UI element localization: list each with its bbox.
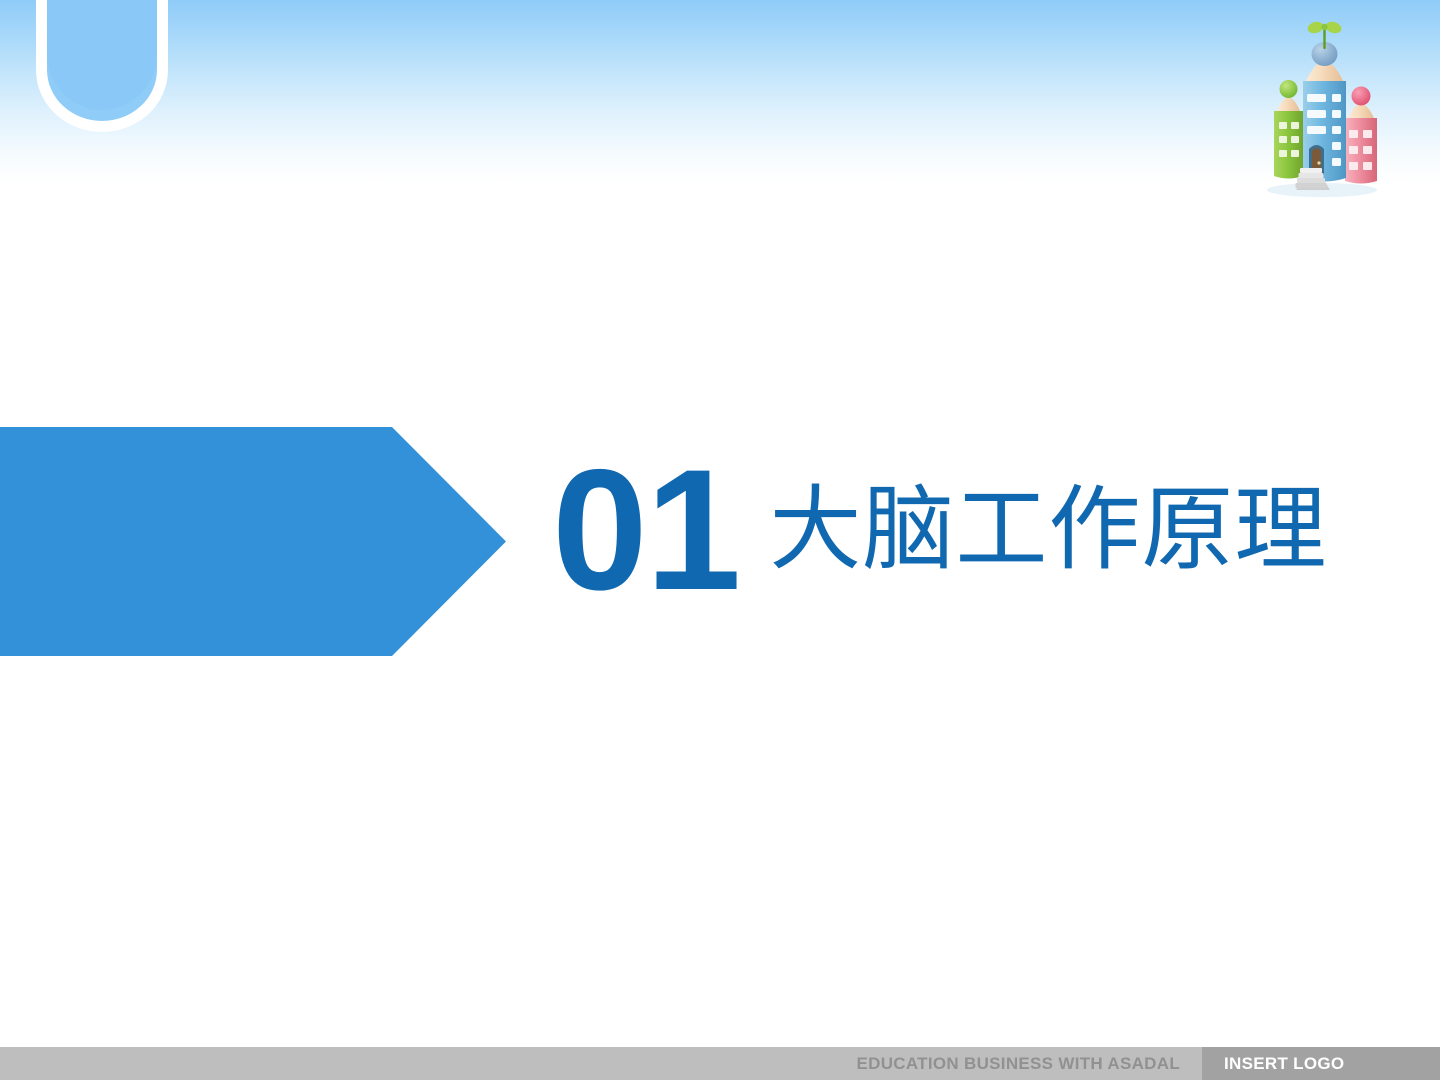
slide-canvas: 01 大脑工作原理 EDUCATION BUSINESS WITH ASADAL… [0,0,1440,1080]
buildings-illustration [1250,18,1395,203]
footer-bar: EDUCATION BUSINESS WITH ASADAL INSERT LO… [0,1047,1440,1080]
pink-building [1345,87,1377,184]
page-title: 大脑工作原理 [769,484,1327,576]
footer-left-band: EDUCATION BUSINESS WITH ASADAL [0,1047,1202,1080]
section-number: 01 [552,444,739,616]
section-title-block: 01 大脑工作原理 [552,440,1327,620]
rounded-u-tab-fill [47,0,157,110]
insert-logo-placeholder: INSERT LOGO [1224,1054,1344,1074]
footer-right-band[interactable]: INSERT LOGO [1202,1047,1440,1080]
footer-tagline: EDUCATION BUSINESS WITH ASADAL [857,1054,1181,1074]
section-arrow-banner [0,427,506,656]
blue-building [1296,20,1347,190]
sprout-icon [1306,20,1342,48]
top-gradient-band [0,0,1440,182]
green-building [1274,80,1303,179]
